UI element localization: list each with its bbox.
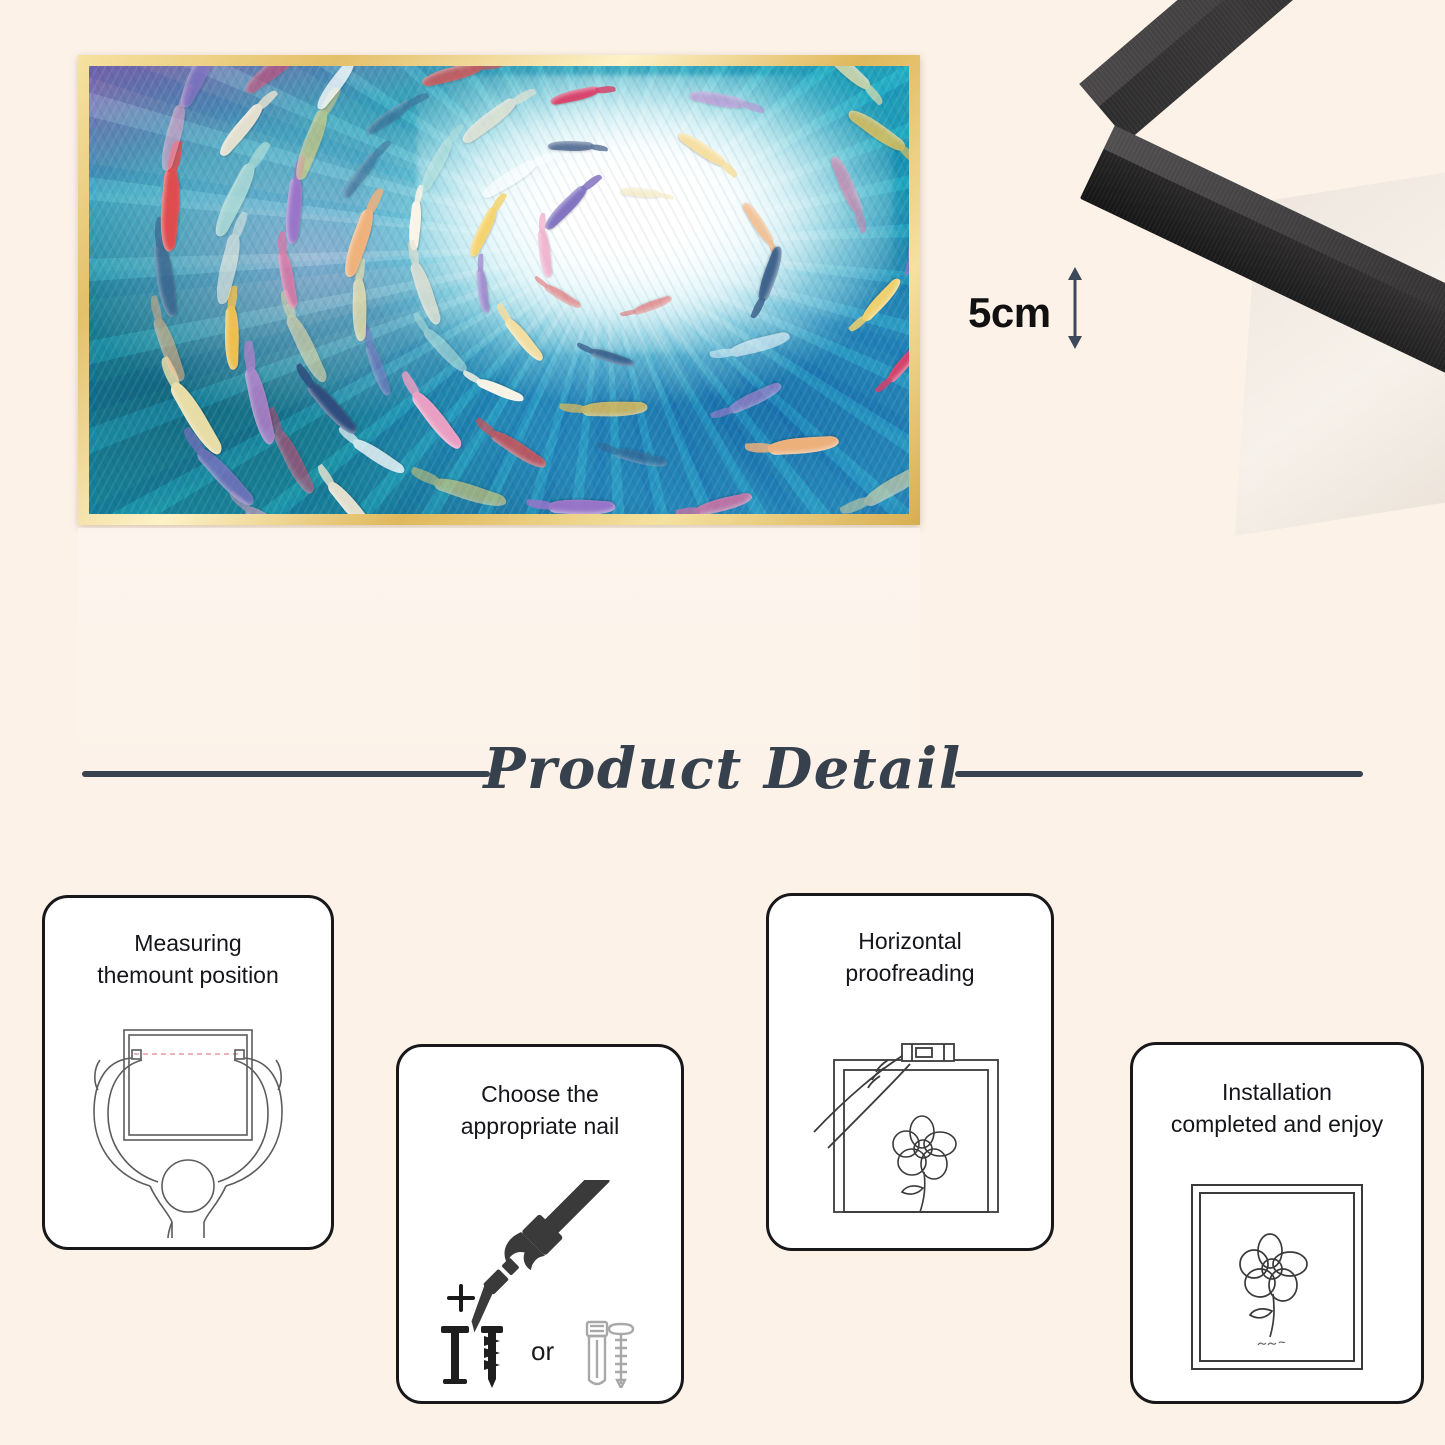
step-card-nail[interactable]: Choose the appropriate nail — [396, 1044, 684, 1404]
step-card-complete[interactable]: Installation completed and enjoy — [1130, 1042, 1424, 1404]
step-card-measuring[interactable]: Measuring themount position — [42, 895, 334, 1250]
fish — [548, 498, 616, 514]
step-card-complete-title: Installation completed and enjoy — [1143, 1077, 1411, 1140]
person-holding-frame-icon — [45, 1016, 331, 1247]
depth-arrow-icon — [1064, 267, 1086, 349]
black-frame-corner-photo — [1070, 0, 1445, 570]
painting-reflection — [78, 528, 920, 888]
divider-right — [955, 771, 1363, 777]
product-detail-page: 5cm Product Detail Measuring themount po… — [0, 0, 1445, 1445]
svg-text:or: or — [531, 1336, 554, 1366]
section-header: Product Detail — [0, 742, 1445, 812]
depth-dimension-label: 5cm — [968, 289, 1051, 337]
hand-with-spirit-level-icon — [769, 1014, 1051, 1248]
step-card-nail-title: Choose the appropriate nail — [409, 1079, 671, 1142]
hammer-and-nails-icon: or — [399, 1167, 681, 1401]
step-card-level[interactable]: Horizontal proofreading — [766, 893, 1054, 1251]
step-card-measuring-title: Measuring themount position — [55, 928, 321, 991]
reflection-fade — [78, 528, 920, 888]
page-title: Product Detail — [0, 736, 1445, 802]
painting-canvas — [89, 66, 909, 514]
frame-bar-top — [1098, 0, 1445, 141]
hung-framed-flower-icon — [1133, 1153, 1421, 1401]
step-card-level-title: Horizontal proofreading — [779, 926, 1041, 989]
hero-framed-painting — [78, 55, 920, 525]
